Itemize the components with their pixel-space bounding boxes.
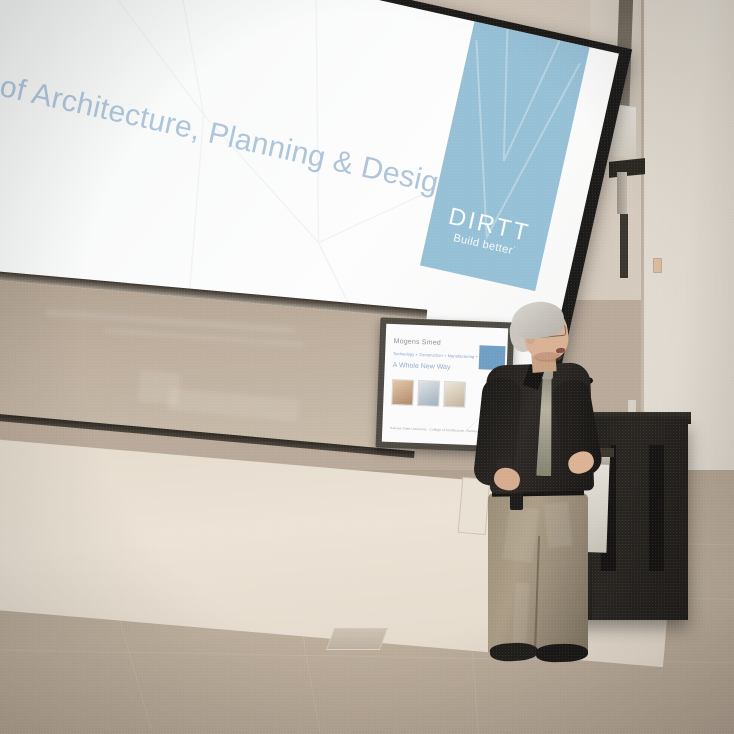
ceiling-conduit: [617, 172, 627, 214]
floor-access-plate: [326, 628, 388, 650]
monitor-thumbnail-2: [417, 380, 440, 407]
lecture-hall-photo: llege of Architecture, Planning & Design…: [0, 0, 734, 734]
ceiling-conduit-lower: [620, 214, 628, 278]
wall-outlet-plate: [653, 258, 662, 273]
monitor-slide-tagline: A Whole New Way: [393, 362, 451, 371]
lectern-groove-right: [648, 445, 664, 571]
monitor-thumbnail-1: [391, 379, 414, 406]
presenter-shoe-right: [536, 643, 589, 663]
presenter: [452, 300, 632, 680]
presenter-jaw-shadow: [534, 352, 562, 362]
presenter-shoe-left: [489, 641, 538, 662]
monitor-slide-title: Mogens Smed: [393, 338, 441, 347]
